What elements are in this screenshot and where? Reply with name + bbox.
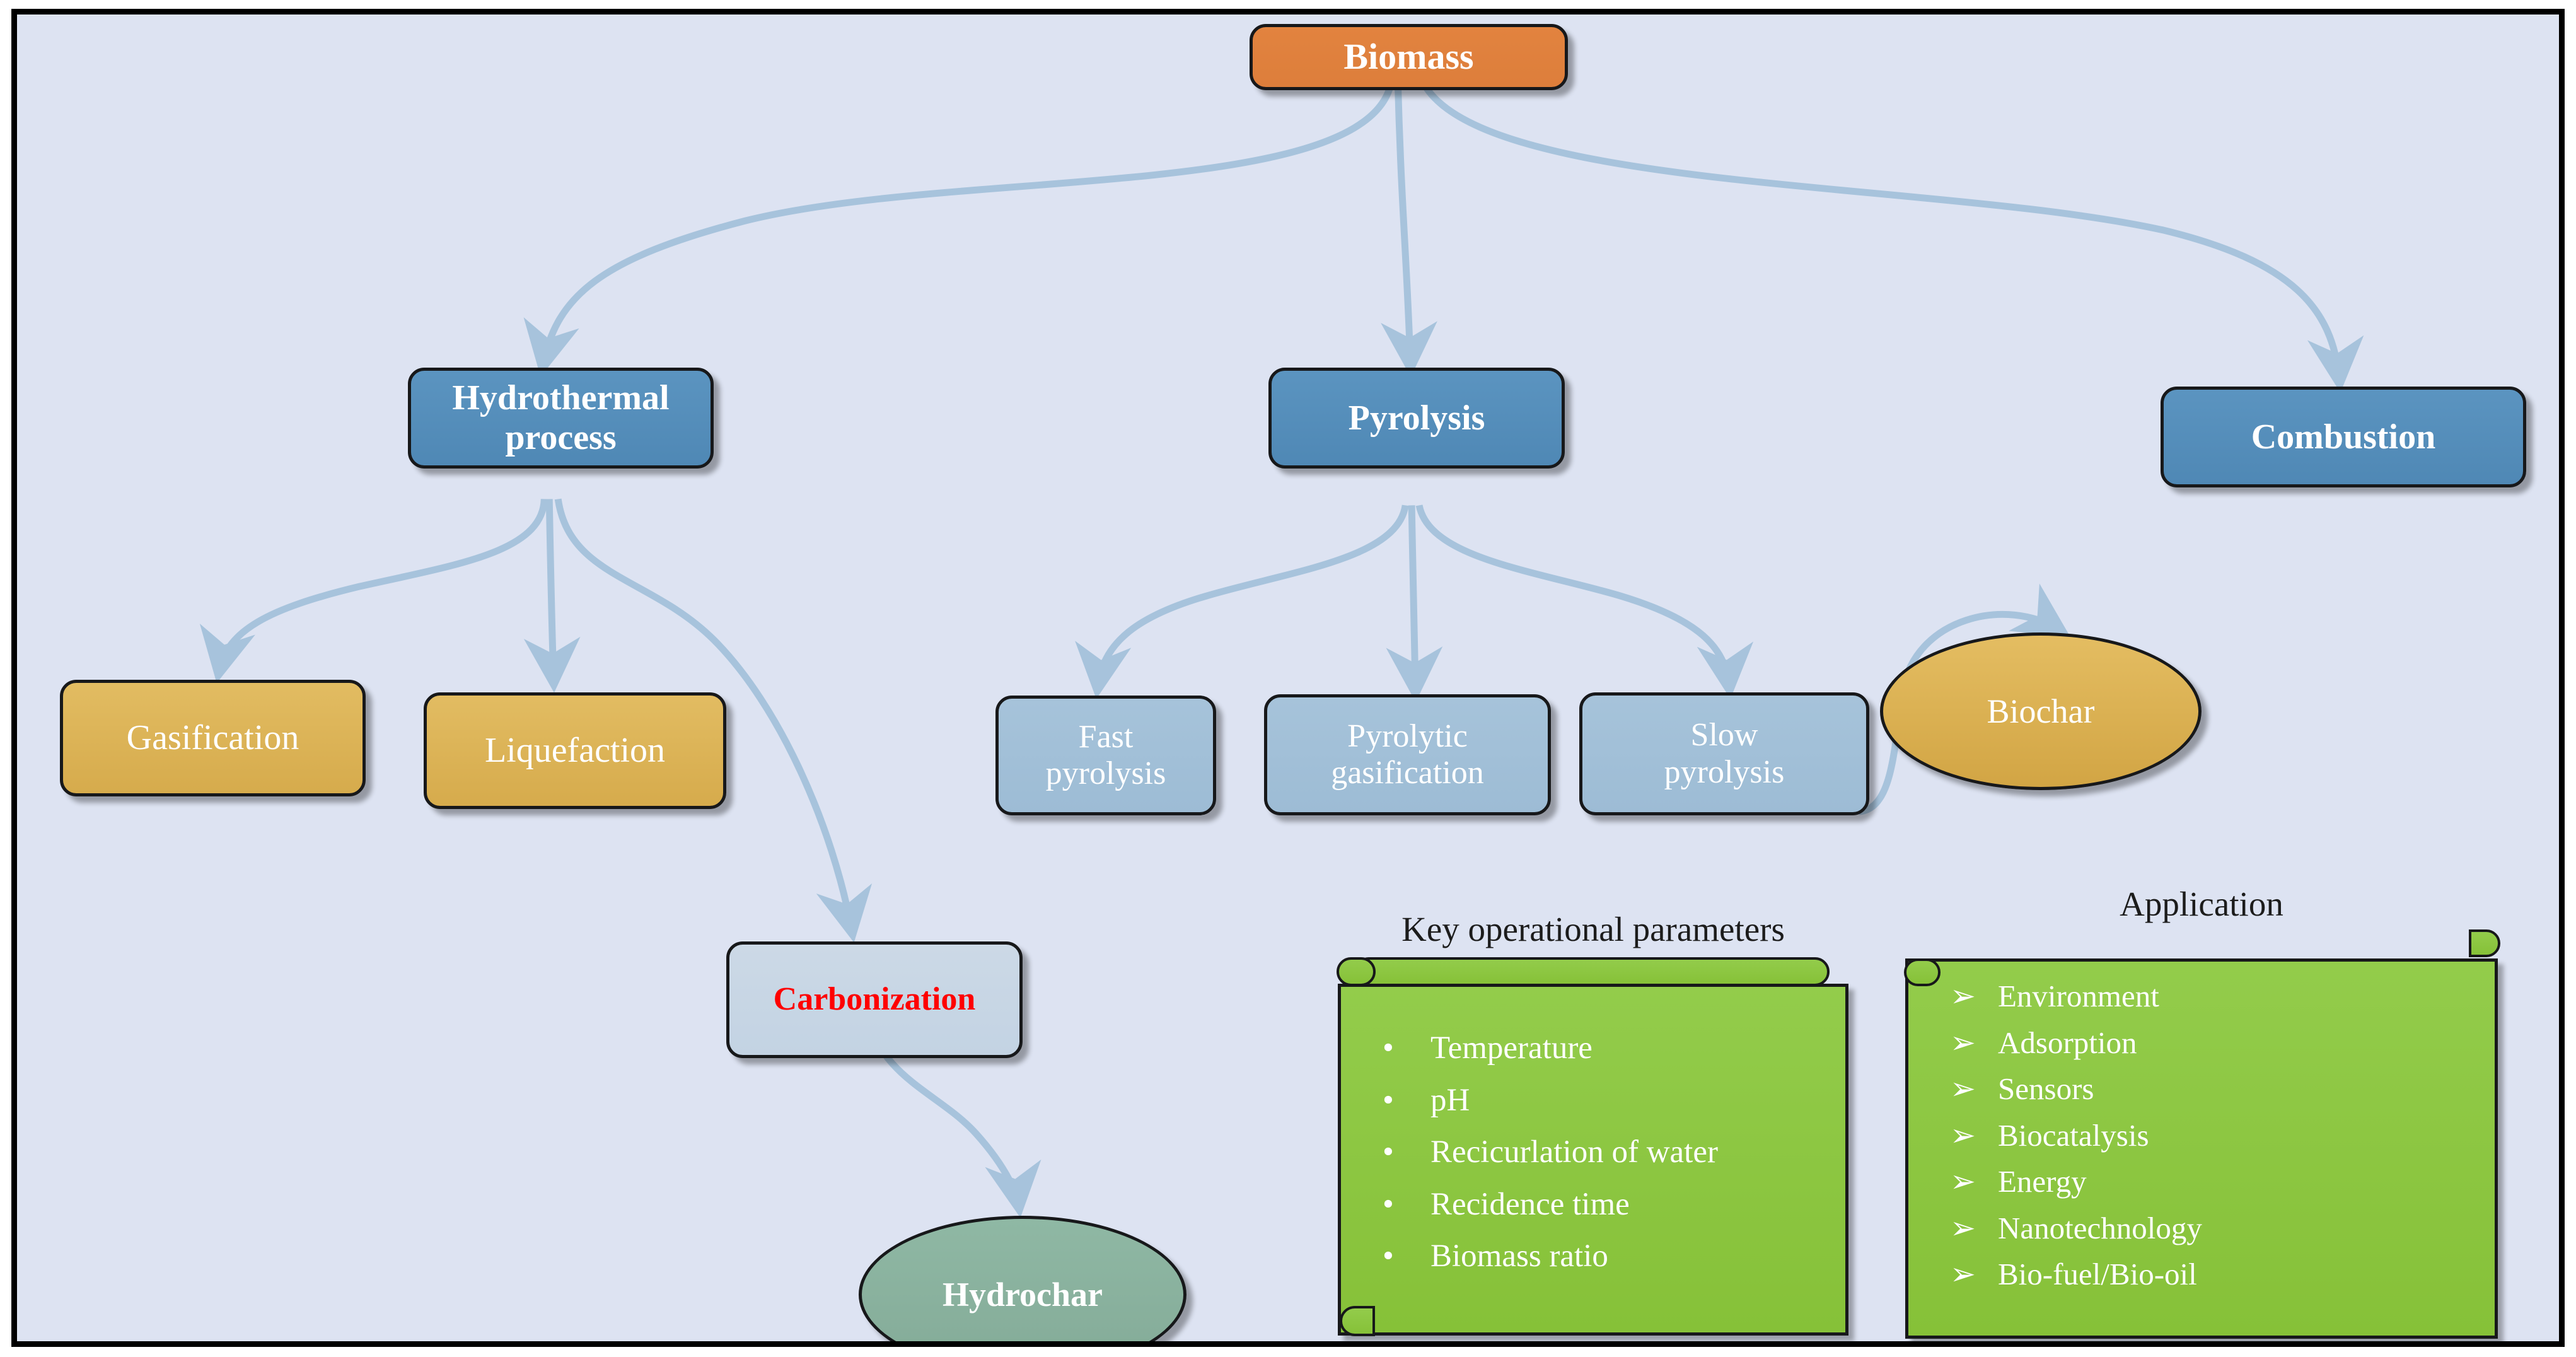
edge-hydrothermal-gasification — [219, 499, 545, 671]
edge-pyrolysis-fast — [1098, 505, 1405, 687]
edge-biomass-combustion — [1423, 82, 2340, 380]
scroll-curl-top-right-icon — [2469, 929, 2500, 957]
node-hydrochar[interactable]: Hydrochar — [859, 1216, 1186, 1347]
bullet-dot-icon: • — [1383, 1179, 1430, 1231]
node-pyrolysis-label: Pyrolysis — [1272, 399, 1562, 438]
bullet-dot-icon: • — [1383, 1075, 1430, 1127]
list-item: •pH — [1383, 1075, 1833, 1127]
node-biochar[interactable]: Biochar — [1880, 632, 2202, 790]
edge-biomass-pyrolysis — [1398, 80, 1410, 364]
node-pyrolytic-gasification[interactable]: Pyrolytic gasification — [1264, 694, 1551, 815]
list-item: ➢Biocatalysis — [1950, 1112, 2482, 1159]
bullet-dot-icon: • — [1383, 1230, 1430, 1283]
node-fast-pyrolysis-label: Fast pyrolysis — [999, 719, 1213, 792]
node-carbonization[interactable]: Carbonization — [726, 941, 1023, 1058]
node-gasification-label: Gasification — [63, 718, 363, 758]
edge-pyrolysis-slow — [1419, 505, 1729, 687]
node-pyrolysis[interactable]: Pyrolysis — [1268, 368, 1565, 469]
panel-parameters-list: •Temperature •pH •Recicurlation of water… — [1383, 1022, 1833, 1283]
list-item: •Recidence time — [1383, 1179, 1833, 1231]
bullet-dot-icon: • — [1383, 1022, 1430, 1075]
node-slow-pyrolysis-label: Slow pyrolysis — [1582, 717, 1866, 790]
diagram-canvas: Biomass Hydrothermal process Pyrolysis C… — [11, 9, 2565, 1347]
node-hydrothermal-process[interactable]: Hydrothermal process — [408, 368, 714, 469]
node-slow-pyrolysis[interactable]: Slow pyrolysis — [1579, 692, 1869, 815]
list-item: ➢Environment — [1950, 973, 2482, 1020]
figure-frame: Biomass Hydrothermal process Pyrolysis C… — [0, 0, 2576, 1357]
list-item: ➢Nanotechnology — [1950, 1205, 2482, 1252]
list-item: ➢Adsorption — [1950, 1020, 2482, 1066]
bullet-arrow-icon: ➢ — [1950, 1205, 1998, 1252]
bullet-arrow-icon: ➢ — [1950, 1112, 1998, 1159]
node-combustion[interactable]: Combustion — [2161, 387, 2526, 487]
node-biomass-label: Biomass — [1253, 37, 1565, 78]
node-liquefaction[interactable]: Liquefaction — [424, 692, 726, 809]
edge-pyrolysis-pyrolytic — [1412, 505, 1415, 689]
bullet-arrow-icon: ➢ — [1950, 1066, 1998, 1112]
edge-biomass-hydrothermal — [543, 80, 1391, 364]
list-item: •Recicurlation of water — [1383, 1126, 1833, 1179]
panel-application-list: ➢Environment ➢Adsorption ➢Sensors ➢Bioca… — [1950, 973, 2482, 1298]
node-gasification[interactable]: Gasification — [60, 680, 366, 796]
node-hydrochar-label: Hydrochar — [862, 1276, 1183, 1313]
node-combustion-label: Combustion — [2164, 417, 2523, 457]
scroll-curl-top-left-icon — [1904, 958, 1941, 986]
panel-parameters-body: •Temperature •pH •Recicurlation of water… — [1338, 984, 1848, 1336]
list-item: ➢Bio-fuel/Bio-oil — [1950, 1251, 2482, 1298]
panel-key-operational-parameters[interactable]: Key operational parameters •Temperature … — [1338, 957, 1848, 1336]
node-biomass[interactable]: Biomass — [1250, 24, 1568, 90]
scroll-curl-top-left-icon — [1337, 957, 1376, 986]
list-item: ➢Energy — [1950, 1158, 2482, 1205]
node-biochar-label: Biochar — [1883, 692, 2198, 730]
scroll-curl-bottom-left-icon — [1340, 1306, 1375, 1336]
node-fast-pyrolysis[interactable]: Fast pyrolysis — [995, 696, 1216, 815]
bullet-arrow-icon: ➢ — [1950, 1251, 1998, 1298]
panel-application-body: ➢Environment ➢Adsorption ➢Sensors ➢Bioca… — [1905, 958, 2498, 1339]
panel-application[interactable]: Application ➢Environment ➢Adsorption ➢Se… — [1905, 932, 2498, 1339]
panel-parameters-title: Key operational parameters — [1338, 909, 1848, 949]
panel-application-title: Application — [1905, 884, 2498, 924]
bullet-dot-icon: • — [1383, 1126, 1430, 1179]
node-pyrolytic-gasification-label: Pyrolytic gasification — [1267, 718, 1548, 791]
scroll-topbar-parameters — [1354, 957, 1830, 986]
bullet-arrow-icon: ➢ — [1950, 1020, 1998, 1066]
list-item: ➢Sensors — [1950, 1066, 2482, 1112]
edge-hydrothermal-liquefaction — [549, 499, 554, 680]
list-item: •Temperature — [1383, 1022, 1833, 1075]
node-hydrothermal-process-label: Hydrothermal process — [411, 378, 711, 457]
node-carbonization-label: Carbonization — [729, 981, 1019, 1018]
bullet-arrow-icon: ➢ — [1950, 1158, 1998, 1205]
list-item: •Biomass ratio — [1383, 1230, 1833, 1283]
bullet-arrow-icon: ➢ — [1950, 973, 1998, 1020]
node-liquefaction-label: Liquefaction — [427, 731, 723, 771]
